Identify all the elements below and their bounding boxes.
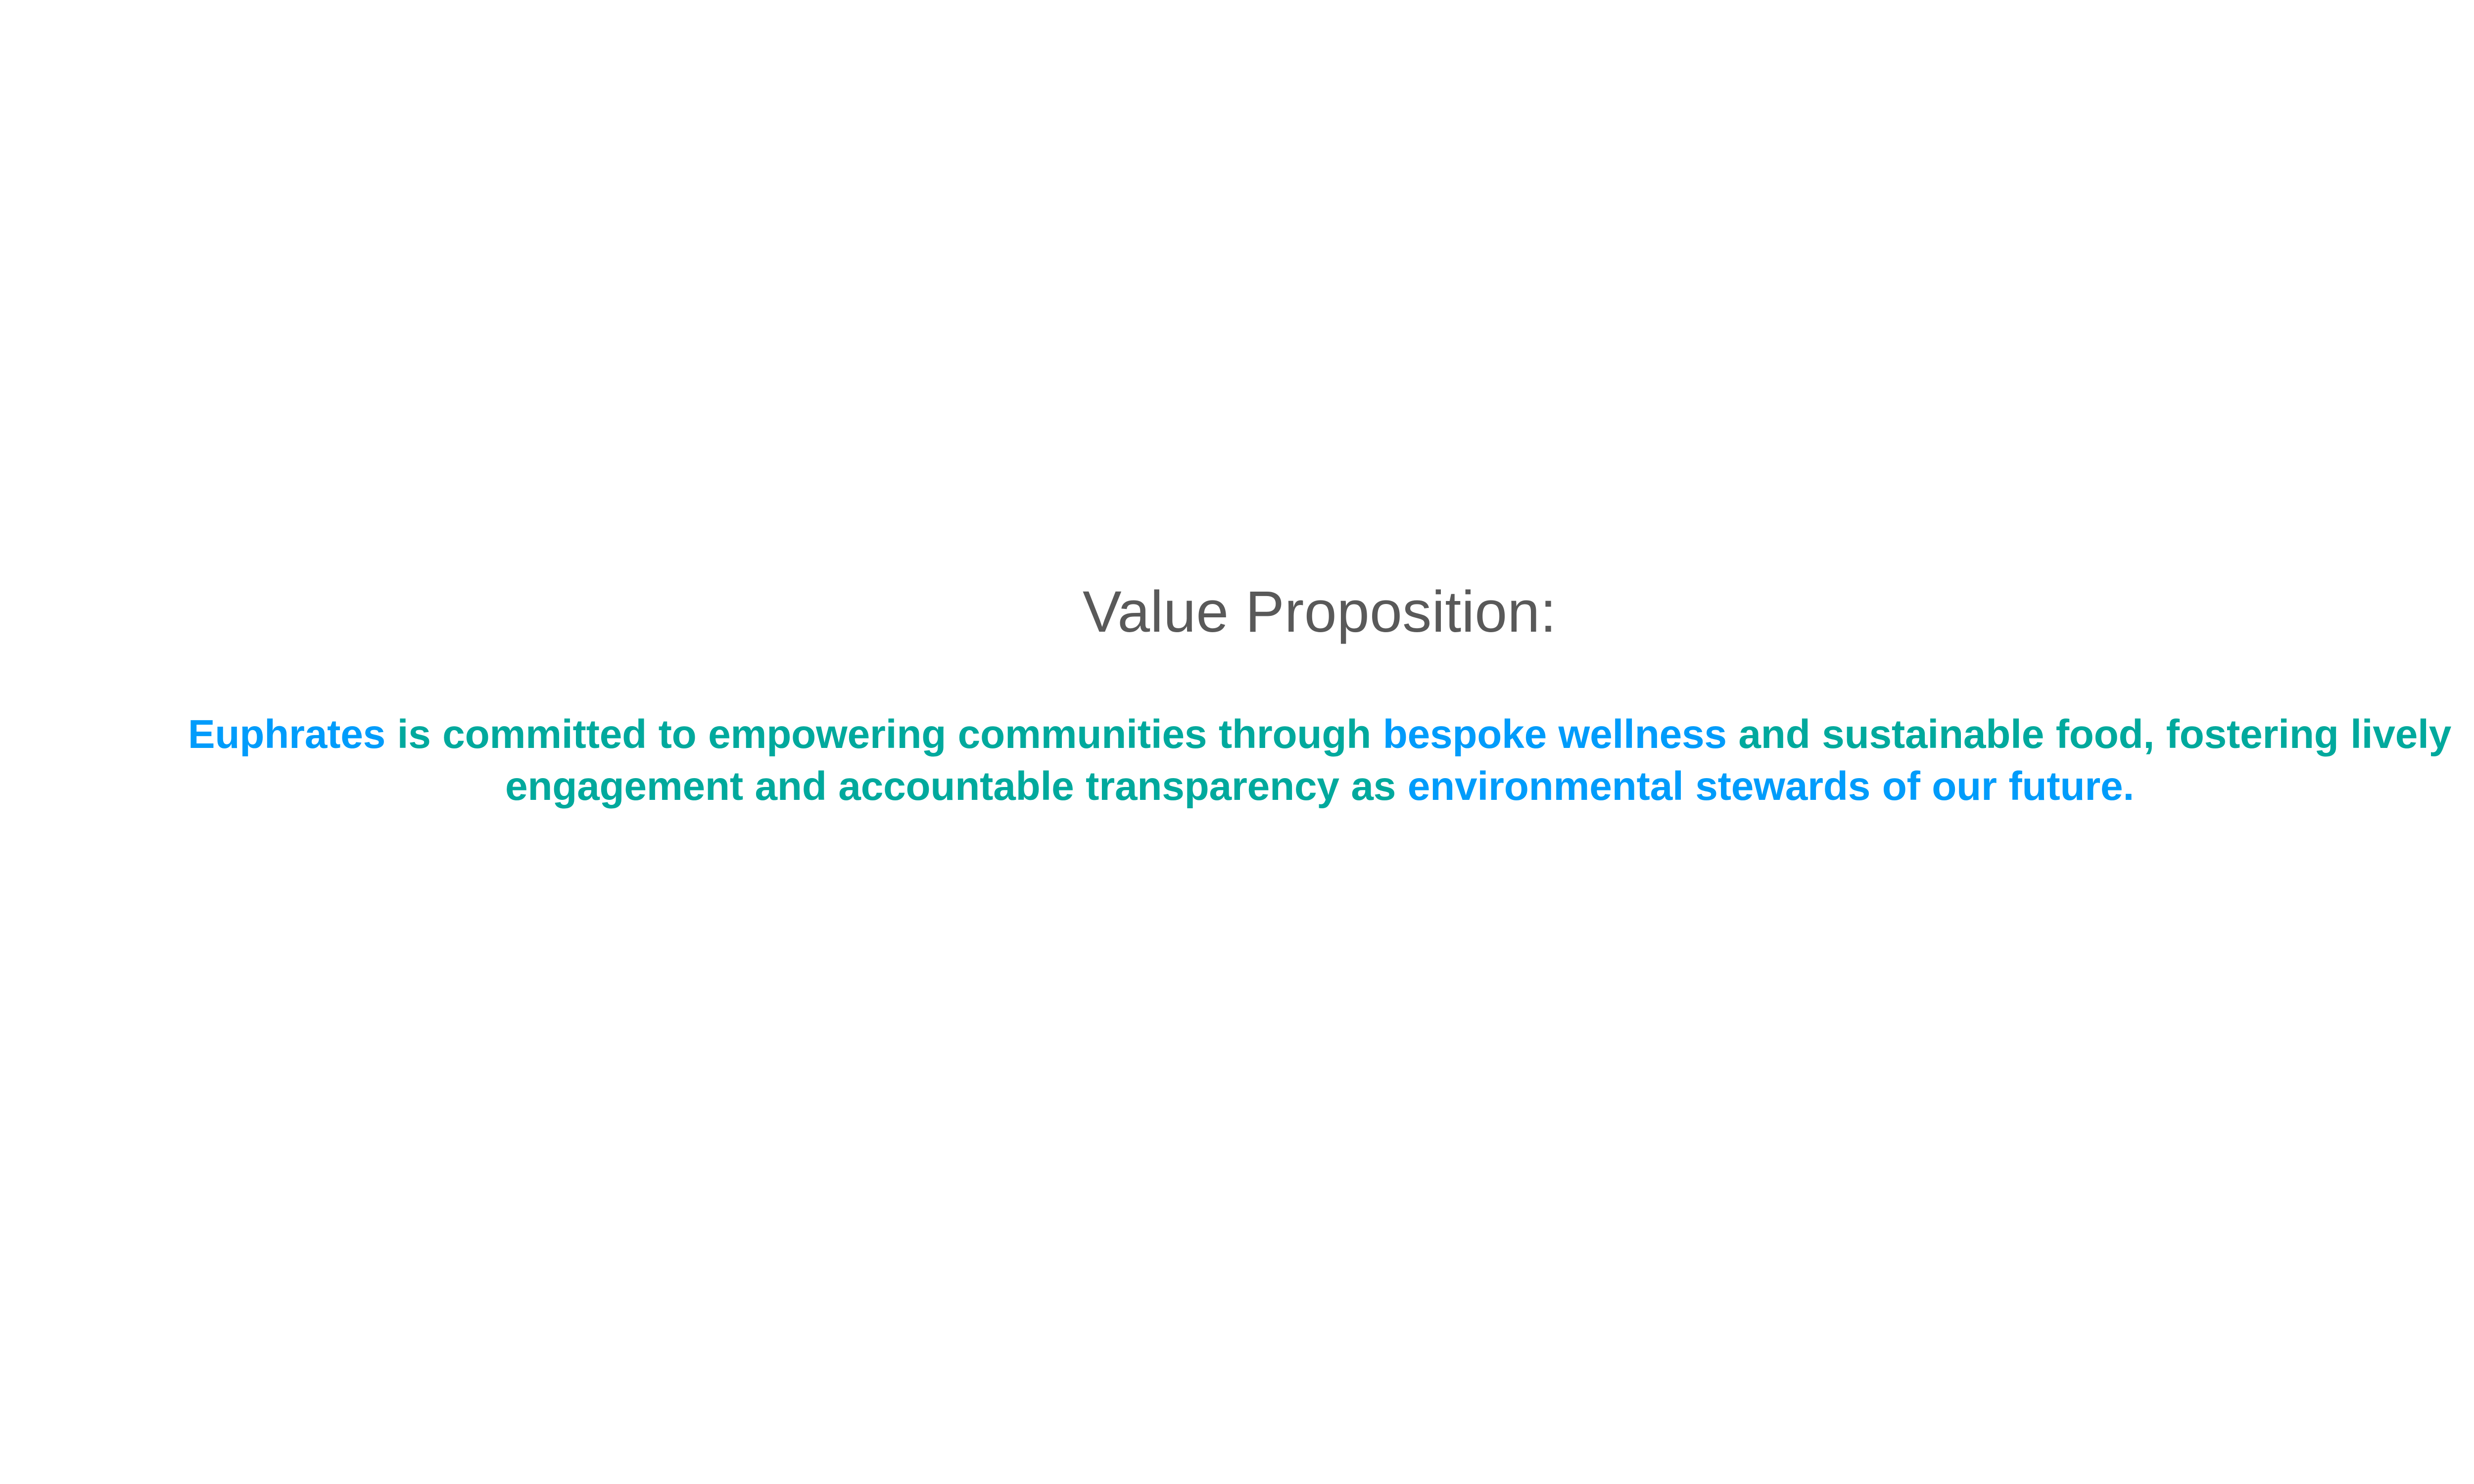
- body-block: Euphrates is committed to empowering com…: [132, 708, 2474, 812]
- value-proposition-paragraph: Euphrates is committed to empowering com…: [132, 708, 2474, 812]
- slide-canvas: Value Proposition: Euphrates is committe…: [0, 0, 2474, 1484]
- heading-block: Value Proposition:: [0, 578, 2474, 647]
- body-segment-bespoke-wellness: bespoke wellness: [1383, 712, 1727, 757]
- page-title: Value Proposition:: [1083, 578, 1557, 647]
- body-segment-2: is committed to empowering communities t…: [385, 712, 1383, 757]
- body-segment-environmental-stewards: environmental stewards of our future.: [1408, 764, 2134, 809]
- body-segment-brand: Euphrates: [188, 712, 385, 757]
